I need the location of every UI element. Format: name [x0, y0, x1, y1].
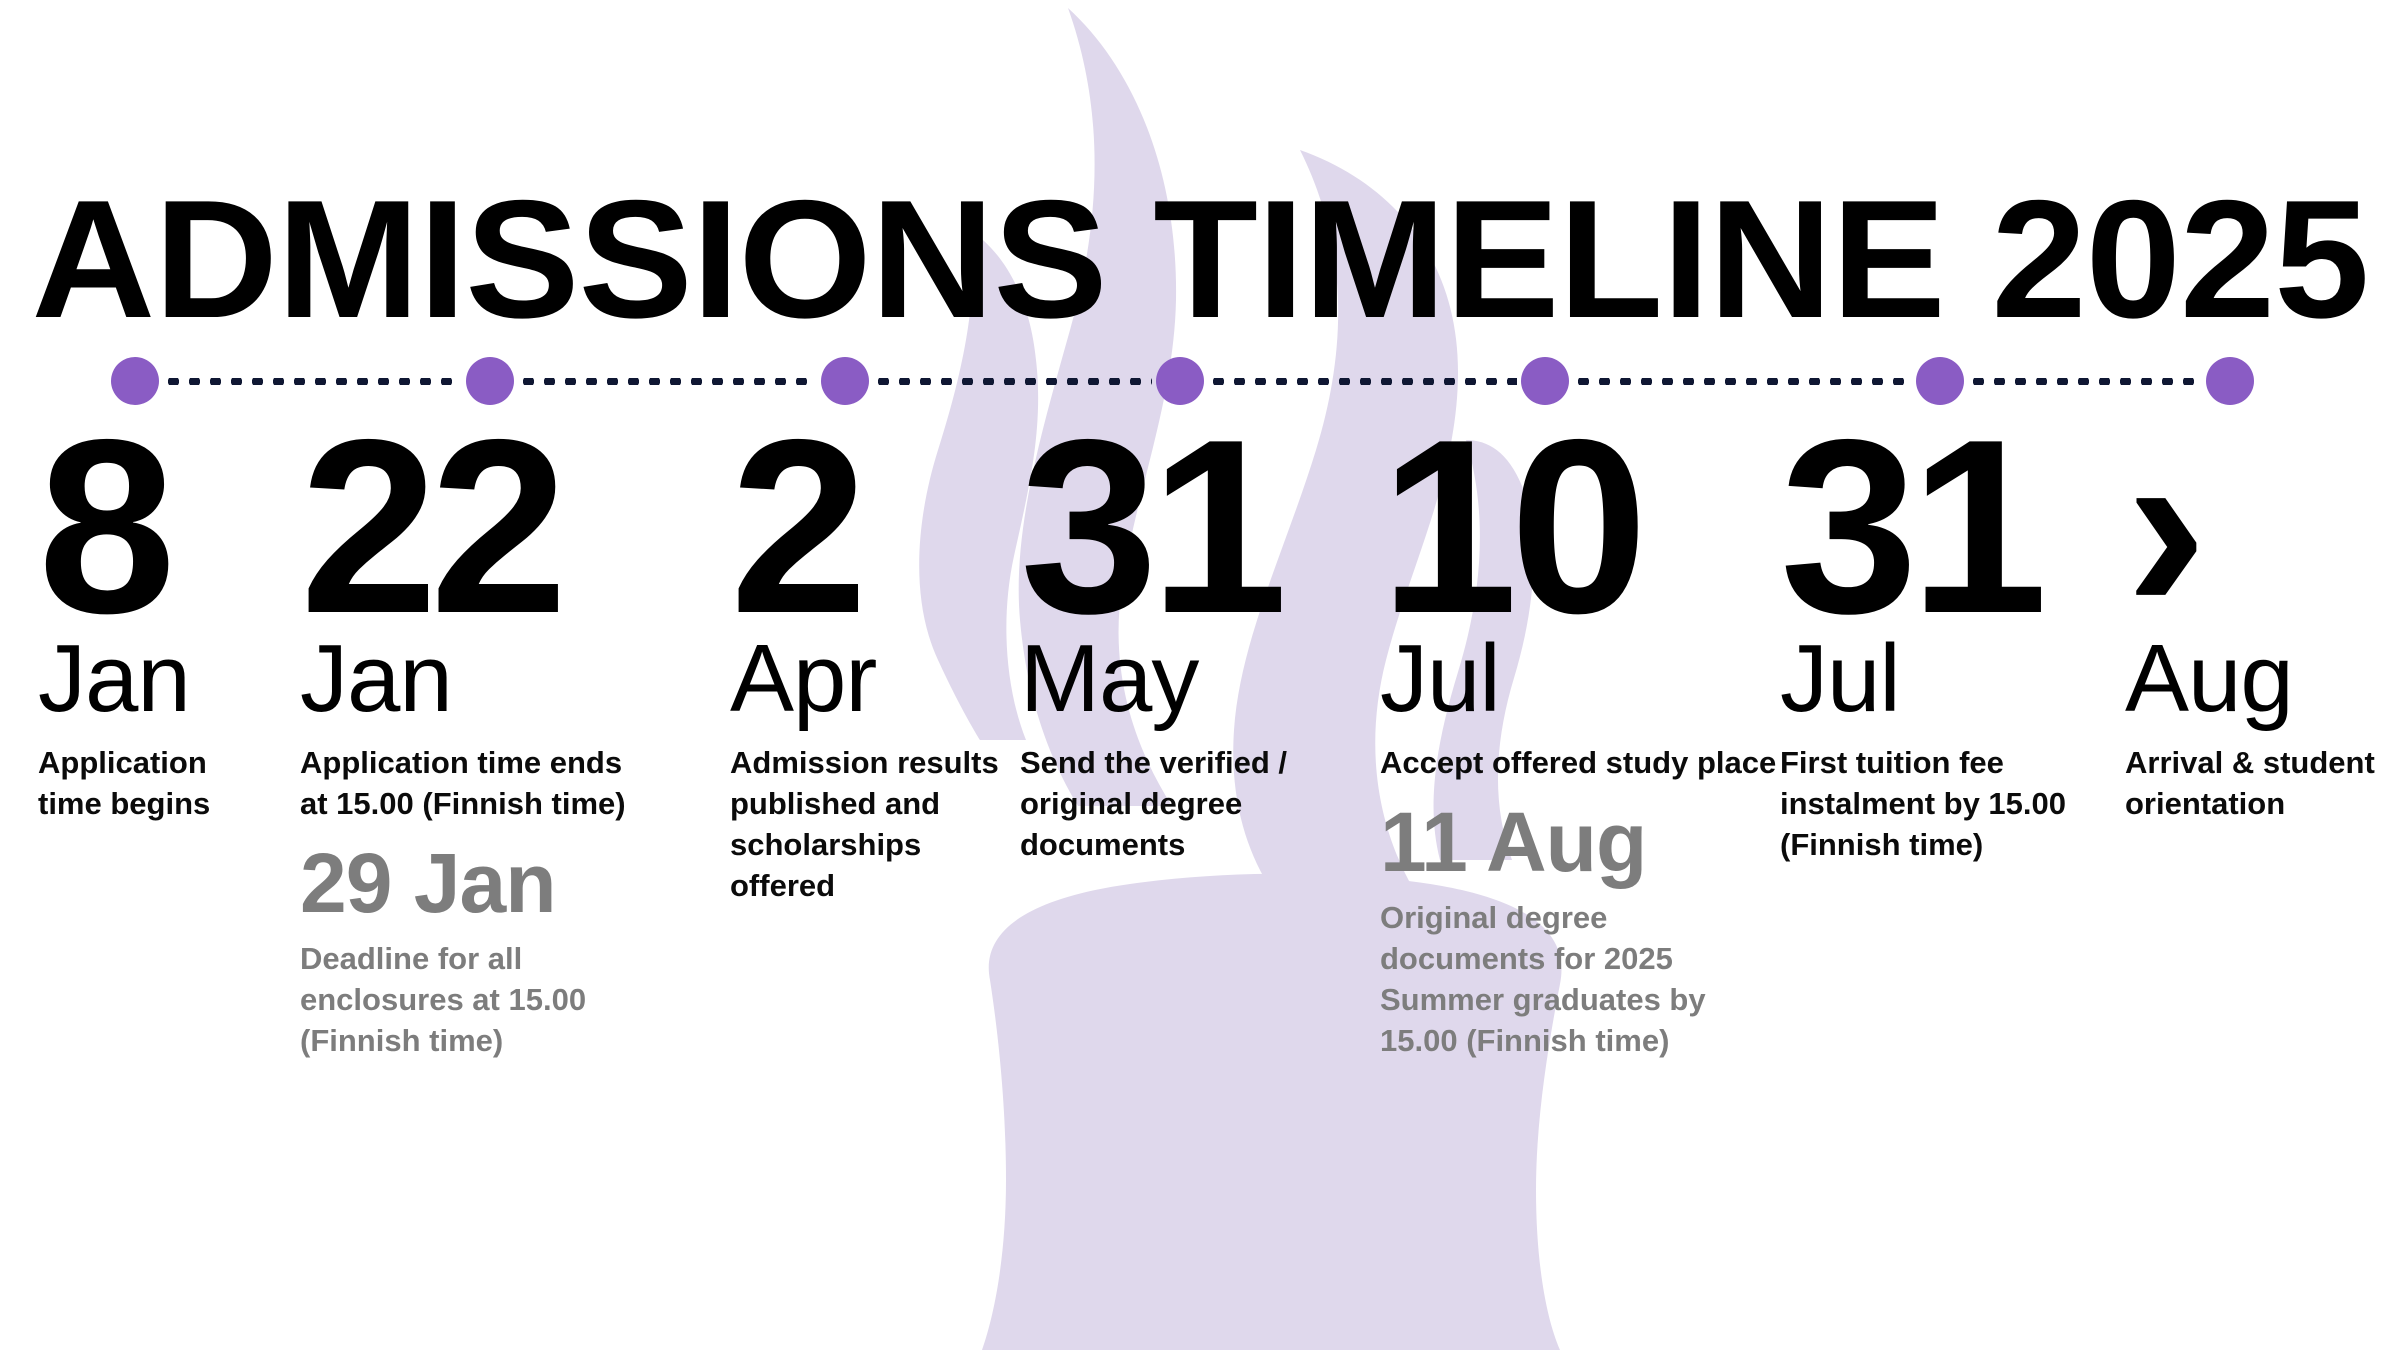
milestone-column: 10JulAccept offered study place11 AugOri… [1380, 430, 1780, 1061]
milestone-month-label: Jan [38, 629, 253, 729]
milestone-column: 22JanApplication time ends at 15.00 (Fin… [300, 430, 630, 1061]
milestone-secondary-description: Deadline for all enclosures at 15.00 (Fi… [300, 939, 630, 1062]
timeline-dotted-segment [1573, 378, 1912, 385]
milestone-description: Application time ends at 15.00 (Finnish … [300, 743, 630, 825]
milestone-column: 2AprAdmission results published and scho… [730, 430, 1000, 907]
milestone-month-label: May [1020, 629, 1360, 729]
timeline-dotted-segment [1208, 378, 1517, 385]
milestone-secondary-date: 29 Jan [300, 841, 630, 927]
milestone-column: 31JulFirst tuition fee instalment by 15.… [1780, 430, 2080, 866]
milestone-description: Accept offered study place [1380, 743, 1780, 784]
milestone-columns: 8JanApplication time begins22JanApplicat… [0, 430, 2400, 1350]
milestone-description: Send the verified / original degree docu… [1020, 743, 1360, 866]
milestone-description: Arrival & student orientation [2125, 743, 2375, 825]
milestone-column: 8JanApplication time begins [38, 430, 253, 825]
milestone-column: 31MaySend the verified / original degree… [1020, 430, 1360, 866]
milestone-day-number: 31 [1020, 430, 1360, 623]
timeline-dotted-segment [518, 378, 817, 385]
timeline-milestone-dot[interactable] [2206, 357, 2254, 405]
timeline-dotted-segment [163, 378, 462, 385]
milestone-description: Application time begins [38, 743, 253, 825]
milestone-description: First tuition fee instalment by 15.00 (F… [1780, 743, 2080, 866]
milestone-description: Admission results published and scholars… [730, 743, 1000, 907]
milestone-secondary-date: 11 Aug [1380, 800, 1780, 886]
milestone-day-number: 8 [38, 430, 253, 623]
milestone-month-label: Apr [730, 629, 1000, 729]
milestone-month-label: Aug [2125, 629, 2375, 729]
milestone-day-number: 22 [300, 430, 630, 623]
milestone-column: ›AugArrival & student orientation [2125, 430, 2375, 825]
chevron-right-icon: › [2125, 430, 2375, 623]
milestone-day-number: 2 [730, 430, 1000, 623]
timeline-dotted-segment [873, 378, 1152, 385]
infographic-canvas: ADMISSIONS TIMELINE 2025 8JanApplication… [0, 0, 2400, 1350]
milestone-day-number: 31 [1780, 430, 2080, 623]
milestone-day-number: 10 [1380, 430, 1780, 623]
page-title: ADMISSIONS TIMELINE 2025 [0, 175, 2400, 343]
milestone-secondary-description: Original degree documents for 2025 Summe… [1380, 898, 1780, 1062]
timeline-dotted-segment [1968, 378, 2202, 385]
